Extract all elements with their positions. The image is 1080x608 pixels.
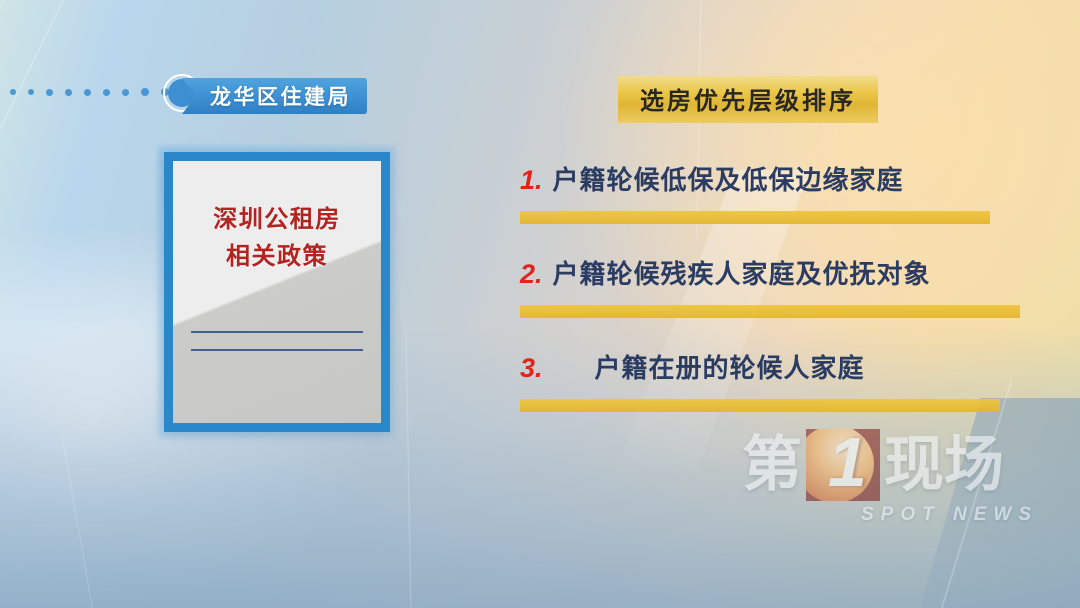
lead-dot xyxy=(122,89,130,97)
agency-banner-label: 龙华区住建局 xyxy=(210,81,351,111)
lead-dot xyxy=(84,89,91,96)
channel-watermark: 第 1 现场 SPOT NEWS xyxy=(742,428,1042,528)
priority-list: 1.户籍轮候低保及低保边缘家庭2.户籍轮候残疾人家庭及优抚对象3.户籍在册的轮候… xyxy=(520,160,1040,442)
broadcast-graphic-frame: 龙华区住建局 深圳公租房 相关政策 选房优先层级排序 1.户籍轮候低保及低保边缘… xyxy=(0,0,1080,608)
priority-list-item: 1.户籍轮候低保及低保边缘家庭 xyxy=(520,160,1040,254)
priority-item-highlight xyxy=(520,305,1020,318)
lead-dot xyxy=(141,88,149,96)
priority-item-text: 户籍轮候残疾人家庭及优抚对象 xyxy=(553,254,931,291)
watermark-text-left: 第 xyxy=(742,435,802,495)
priority-item-highlight xyxy=(520,399,1000,412)
lead-dot xyxy=(10,89,16,95)
watermark-digit: 1 xyxy=(828,429,867,497)
agency-banner: 龙华区住建局 xyxy=(182,78,367,114)
lead-dot xyxy=(103,89,110,96)
priority-item-text: 户籍轮候低保及低保边缘家庭 xyxy=(553,160,904,197)
document-card-title-line-1: 深圳公租房 xyxy=(213,201,341,238)
lead-dot xyxy=(65,89,72,96)
watermark-subtitle: SPOT NEWS xyxy=(742,504,1042,526)
priority-item-number: 2. xyxy=(520,259,543,290)
document-card-rule xyxy=(191,331,363,333)
priority-item-number: 3. xyxy=(520,353,543,384)
priority-item-number: 1. xyxy=(520,165,543,196)
lead-dot xyxy=(28,89,34,95)
panel-title-label: 选房优先层级排序 xyxy=(640,88,856,115)
document-card-rule xyxy=(191,349,363,351)
document-card: 深圳公租房 相关政策 xyxy=(164,152,390,432)
priority-item-text: 户籍在册的轮候人家庭 xyxy=(595,348,865,385)
watermark-text-right: 现场 xyxy=(884,435,1004,495)
priority-list-item: 2.户籍轮候残疾人家庭及优抚对象 xyxy=(520,254,1040,348)
lead-dot xyxy=(46,89,53,96)
panel-title-bar: 选房优先层级排序 xyxy=(618,76,878,123)
priority-item-highlight xyxy=(520,211,990,224)
watermark-number-mark: 1 xyxy=(806,429,880,501)
document-card-rules xyxy=(191,331,363,351)
document-card-title-line-2: 相关政策 xyxy=(226,238,328,275)
